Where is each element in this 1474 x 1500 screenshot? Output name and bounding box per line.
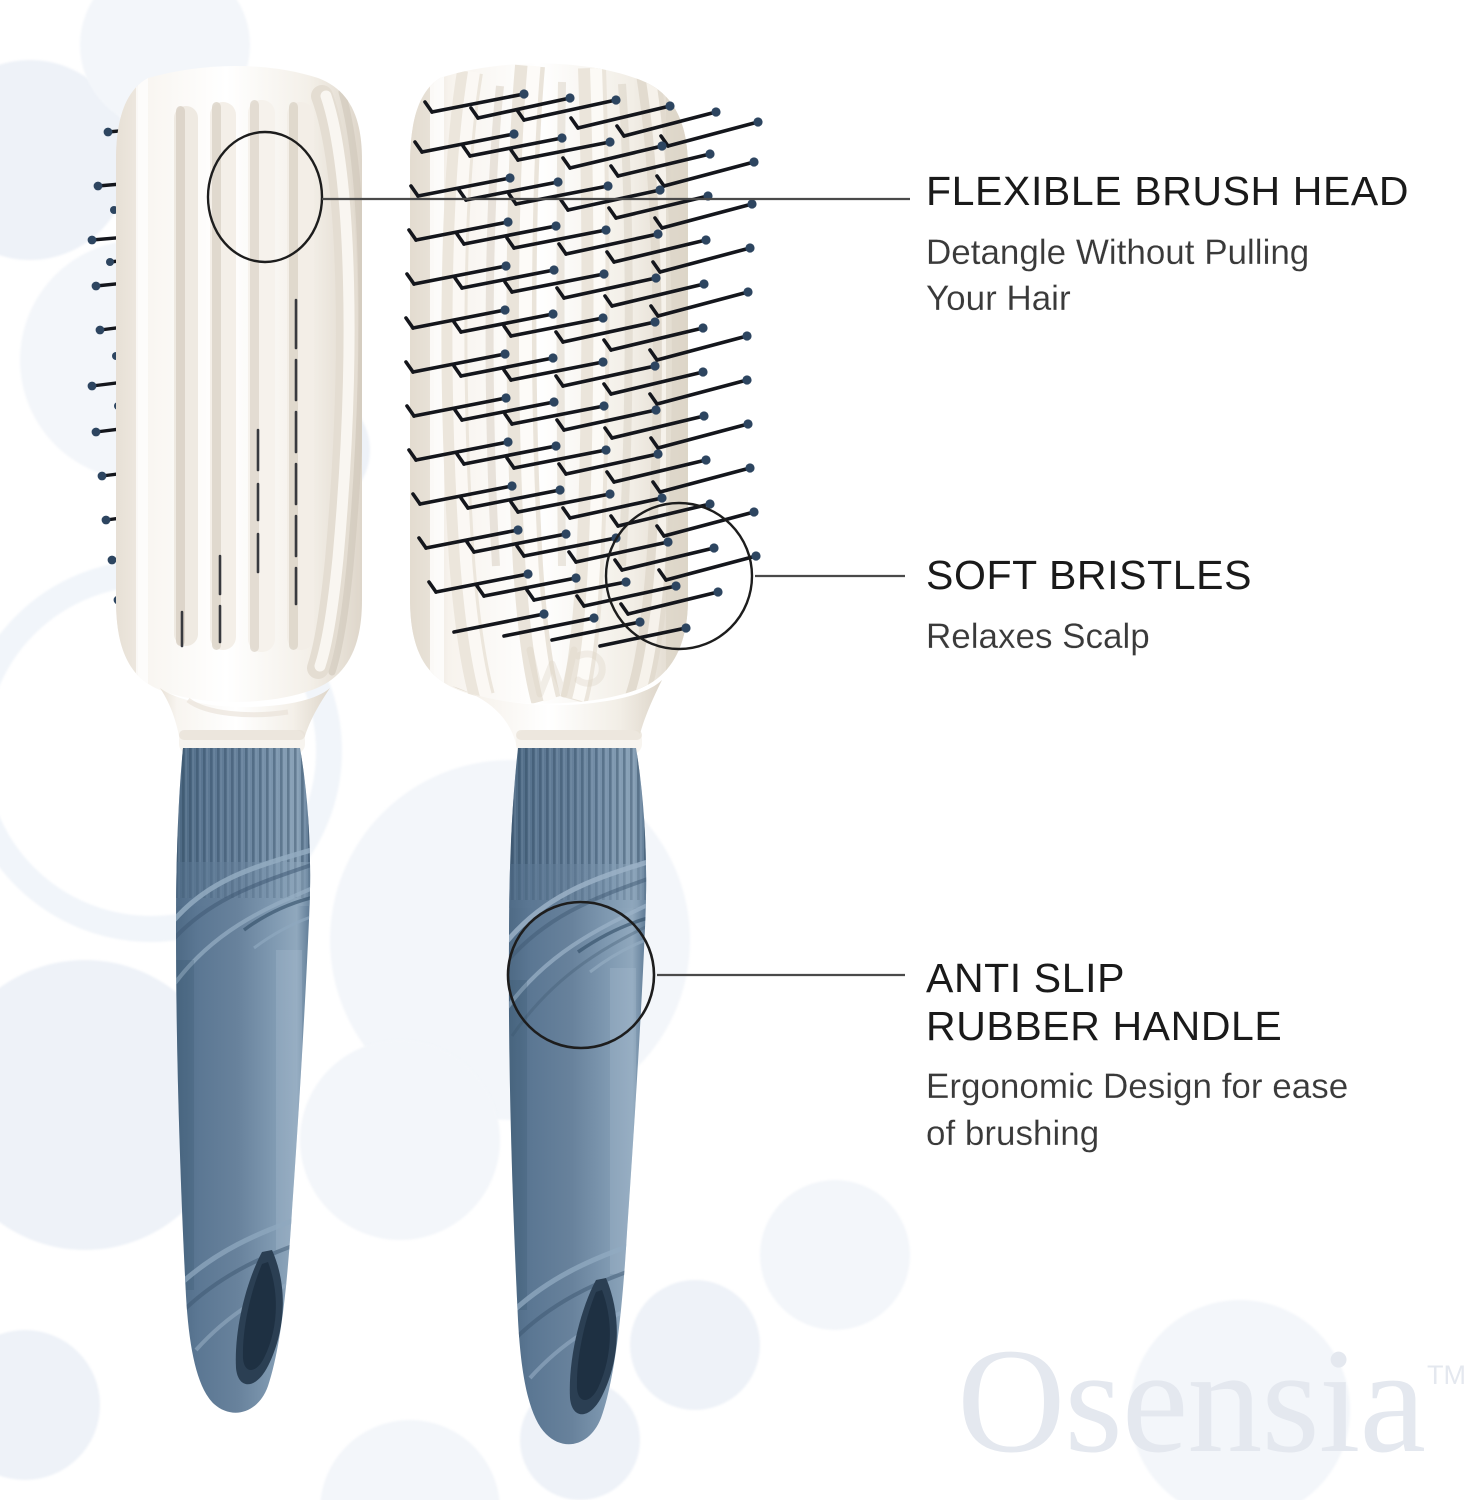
callout-flexible-brush-head: FLEXIBLE BRUSH HEAD Detangle Without Pul…	[926, 168, 1474, 323]
callout-subtitle: Relaxes Scalp	[926, 614, 1474, 661]
handle-right	[500, 748, 660, 1444]
brush-front-view	[406, 63, 763, 754]
callout-soft-bristles: SOFT BRISTLES Relaxes Scalp	[926, 552, 1474, 660]
callout-title: FLEXIBLE BRUSH HEAD	[926, 168, 1474, 216]
product-illustration	[0, 0, 900, 1500]
infographic-canvas: FLEXIBLE BRUSH HEAD Detangle Without Pul…	[0, 0, 1474, 1500]
callout-subtitle: Ergonomic Design for ease of brushing	[926, 1064, 1474, 1157]
callout-title: SOFT BRISTLES	[926, 552, 1474, 600]
callout-text-column: FLEXIBLE BRUSH HEAD Detangle Without Pul…	[900, 0, 1474, 1500]
callout-subtitle: Detangle Without Pulling Your Hair	[926, 230, 1474, 323]
handle-left	[166, 748, 322, 1413]
callout-anti-slip-rubber-handle: ANTI SLIP RUBBER HANDLE Ergonomic Design…	[926, 955, 1474, 1157]
callout-title: ANTI SLIP RUBBER HANDLE	[926, 955, 1474, 1050]
brush-side-view	[88, 66, 362, 754]
